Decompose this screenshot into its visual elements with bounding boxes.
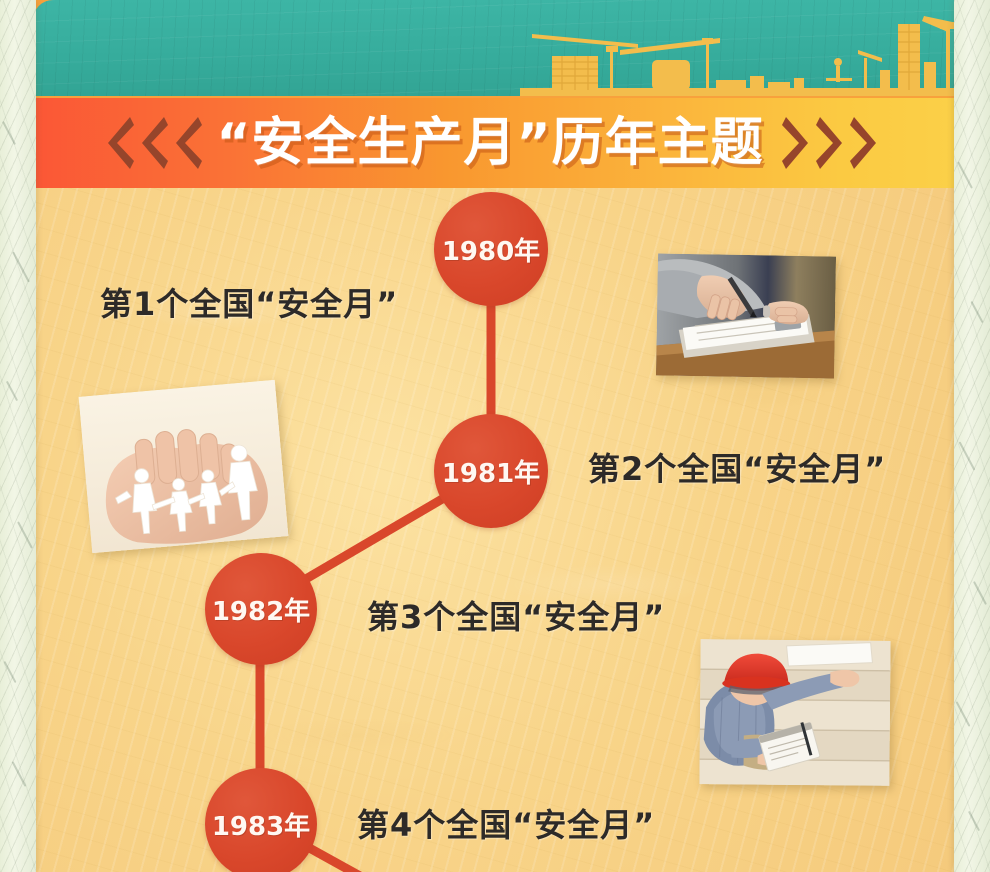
timeline-node-1982-year: 1982年 — [212, 591, 310, 628]
timeline-node-1980-year: 1980年 — [442, 231, 540, 268]
timeline-caption-1983: 第4个全国“安全月” — [357, 800, 655, 846]
timeline-node-1981-year: 1981年 — [442, 453, 540, 490]
chevron-left-icon — [138, 115, 168, 171]
timeline-caption-1980: 第1个全国“安全月” — [100, 279, 398, 325]
right-chevrons — [782, 115, 880, 171]
title-banner: “安全生产月”历年主题 — [0, 98, 990, 188]
photo-hands-paper-family — [79, 380, 289, 554]
right-paper-border — [954, 0, 990, 872]
timeline-node-1983-year: 1983年 — [212, 806, 310, 843]
photo-hand-writing-clipboard — [656, 253, 836, 378]
chevron-left-icon — [104, 115, 134, 171]
timeline-node-1980[interactable]: 1980年 — [434, 192, 548, 306]
chevron-right-icon — [816, 115, 846, 171]
chevron-right-icon — [850, 115, 880, 171]
photo-worker-red-helmet-inspecting — [699, 639, 890, 786]
timeline-node-1982[interactable]: 1982年 — [205, 553, 317, 665]
infographic-poster: “安全生产月”历年主题 — [0, 0, 990, 872]
page-title: “安全生产月”历年主题 — [216, 117, 763, 169]
chevron-left-icon — [172, 115, 202, 171]
timeline-node-1981[interactable]: 1981年 — [434, 414, 548, 528]
timeline-node-1983[interactable]: 1983年 — [205, 768, 317, 872]
chevron-right-icon — [782, 115, 812, 171]
timeline-caption-1981: 第2个全国“安全月” — [588, 444, 886, 490]
left-chevrons — [104, 115, 202, 171]
teal-header-panel — [33, 0, 990, 96]
construction-site-silhouette-icon — [520, 0, 990, 96]
header-band — [0, 0, 990, 100]
left-paper-border — [0, 0, 36, 872]
timeline-caption-1982: 第3个全国“安全月” — [367, 592, 665, 638]
